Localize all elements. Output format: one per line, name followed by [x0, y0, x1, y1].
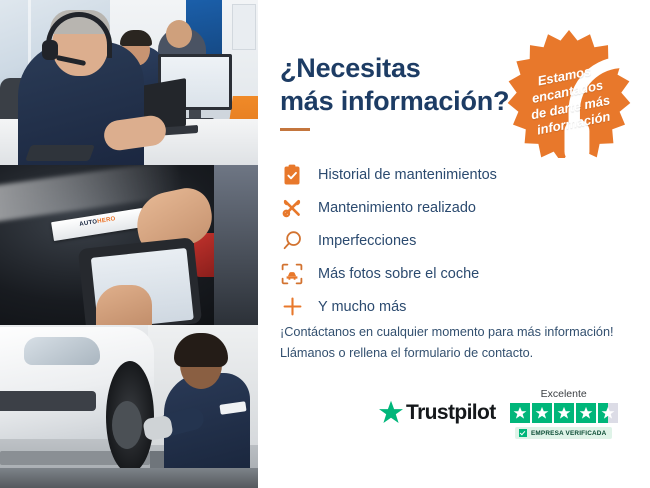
photo-workshop-wheel	[0, 325, 258, 488]
promo-starburst-badge: Estamos encantados de darte más informac…	[504, 28, 634, 158]
page-title: ¿Necesitasmás información?	[280, 52, 520, 118]
contact-copy: ¡Contáctanos en cualquier momento para m…	[280, 322, 636, 363]
car-headlamp	[24, 337, 100, 365]
plus-icon	[280, 295, 304, 319]
contact-copy-line1: ¡Contáctanos en cualquier momento para m…	[280, 322, 636, 343]
trustpilot-wordmark: Trustpilot	[406, 401, 496, 425]
photo-collage: AUTOHERO	[0, 0, 258, 488]
feature-item-maintenance-history: Historial de mantenimientos	[280, 158, 630, 191]
feature-item-maintenance-done: Mantenimiento realizado	[280, 191, 630, 224]
star-filled	[532, 403, 552, 423]
desk-tablet	[25, 145, 95, 161]
trustpilot-widget[interactable]: Trustpilot Excelente	[378, 388, 636, 439]
contact-copy-line2: Llámanos o rellena el formulario de cont…	[280, 343, 636, 364]
star-filled	[510, 403, 530, 423]
title-divider	[280, 128, 310, 131]
check-icon	[519, 429, 527, 437]
star-filled	[576, 403, 596, 423]
star-half	[598, 403, 618, 423]
headset-icon	[558, 46, 580, 66]
star-filled	[554, 403, 574, 423]
feature-label: Mantenimiento realizado	[318, 200, 476, 216]
photo-call-center	[0, 0, 258, 165]
contact-info-banner: AUTOHERO ¿Neces	[0, 0, 650, 488]
tools-cross-icon	[280, 196, 304, 220]
photo-body-inspection: AUTOHERO	[0, 165, 258, 325]
feature-list: Historial de mantenimientos Mantenimient…	[280, 158, 630, 323]
feature-item-more-photos: Más fotos sobre el coche	[280, 257, 630, 290]
person-middle-hair	[120, 30, 152, 46]
trustpilot-rating: Excelente	[510, 388, 618, 439]
person-background-head	[166, 20, 192, 48]
content-panel: ¿Necesitasmás información? Estamos encan…	[258, 0, 650, 488]
technician-hand-lower	[96, 285, 152, 325]
page-title-line1: ¿Necesitas	[280, 53, 421, 83]
trustpilot-rating-label: Excelente	[541, 388, 587, 400]
trustpilot-stars	[510, 403, 618, 423]
verified-company-label: EMPRESA VERIFICADA	[531, 430, 606, 437]
feature-item-much-more: Y mucho más	[280, 290, 630, 323]
verified-company-badge: EMPRESA VERIFICADA	[515, 427, 612, 439]
magnifier-icon	[280, 229, 304, 253]
clipboard-check-icon	[280, 163, 304, 187]
trustpilot-logo: Trustpilot	[378, 400, 496, 425]
workshop-floor	[0, 468, 258, 488]
page-title-line2: más información?	[280, 86, 509, 116]
feature-item-imperfections: Imperfecciones	[280, 224, 630, 257]
car-grille	[0, 391, 96, 411]
ruler-brand-part2: HERO	[97, 216, 116, 225]
white-poster	[232, 4, 256, 50]
feature-label: Más fotos sobre el coche	[318, 266, 479, 282]
car-scan-icon	[280, 262, 304, 286]
background-technician	[214, 165, 258, 325]
feature-label: Imperfecciones	[318, 233, 416, 249]
ruler-brand-part1: AUTO	[79, 219, 98, 228]
trustpilot-star-icon	[378, 400, 404, 425]
wheel-hub	[112, 401, 142, 449]
feature-label: Y mucho más	[318, 299, 406, 315]
feature-label: Historial de mantenimientos	[318, 167, 497, 183]
